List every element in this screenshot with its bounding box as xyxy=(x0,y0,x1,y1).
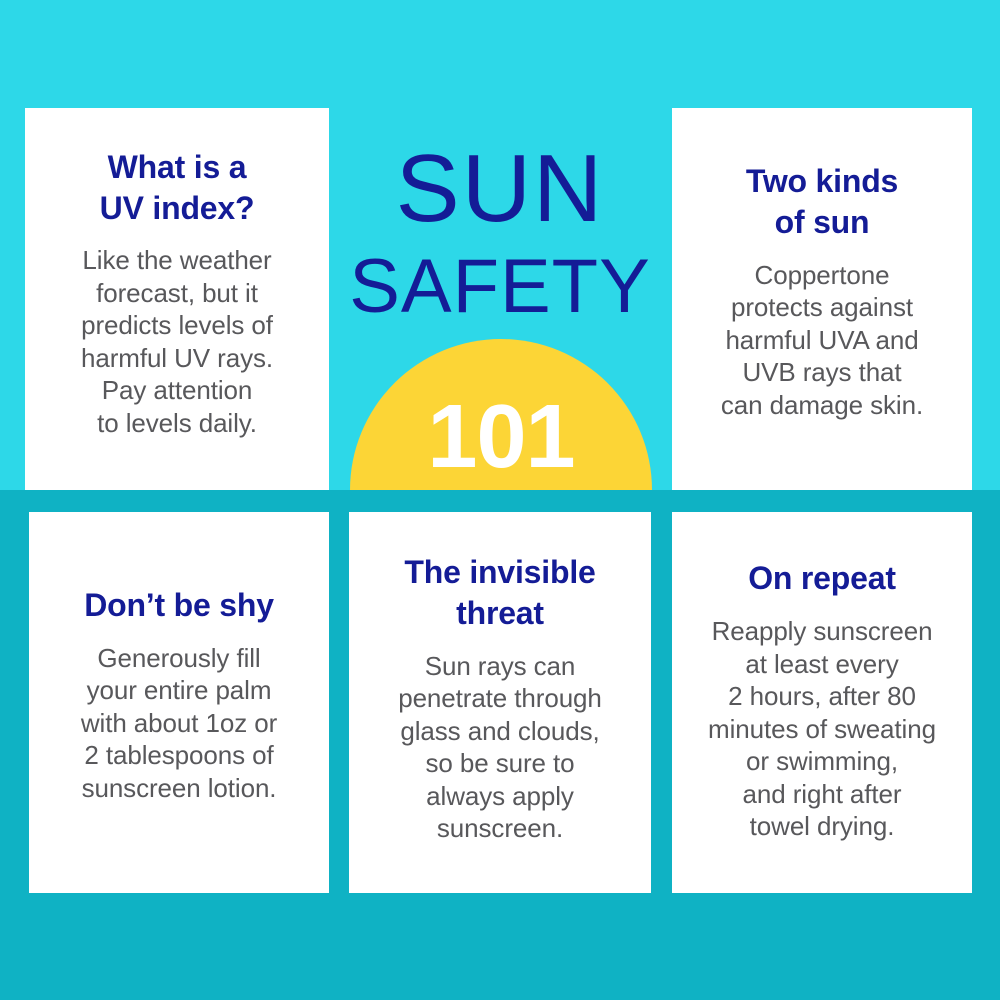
logo-line-sun: SUN xyxy=(330,146,670,232)
card-two-kinds-of-sun-title-line2: of sun xyxy=(775,204,870,240)
body-line: and right after xyxy=(743,779,902,809)
body-line: Pay attention xyxy=(102,375,252,405)
body-line: your entire palm xyxy=(87,675,272,705)
card-invisible-threat: The invisiblethreat Sun rays canpenetrat… xyxy=(349,512,651,893)
body-line: to levels daily. xyxy=(97,408,257,438)
body-line: protects against xyxy=(731,292,913,322)
card-invisible-threat-title-line2: threat xyxy=(456,595,544,631)
body-line: Like the weather xyxy=(82,245,271,275)
body-line: Sun rays can xyxy=(425,651,576,681)
body-line: Reapply sunscreen xyxy=(712,616,933,646)
body-line: penetrate through xyxy=(398,683,602,713)
card-invisible-threat-body: Sun rays canpenetrate throughglass and c… xyxy=(363,650,637,845)
badge-number-101: 101 xyxy=(350,392,652,482)
card-uv-index-title: What is aUV index? xyxy=(39,147,315,229)
card-uv-index: What is aUV index? Like the weatherforec… xyxy=(25,108,329,490)
body-line: 2 hours, after 80 xyxy=(728,681,916,711)
card-on-repeat: On repeat Reapply sunscreenat least ever… xyxy=(672,512,972,893)
body-line: or swimming, xyxy=(746,746,898,776)
card-uv-index-body: Like the weatherforecast, but itpredicts… xyxy=(39,244,315,439)
body-line: at least every xyxy=(745,649,898,679)
body-line: 2 tablespoons of xyxy=(84,740,273,770)
card-uv-index-title-line1: What is a xyxy=(108,149,247,185)
body-line: can damage skin. xyxy=(721,390,923,420)
body-line: sunscreen lotion. xyxy=(82,773,277,803)
card-uv-index-title-line2: UV index? xyxy=(100,190,255,226)
card-two-kinds-of-sun-body: Coppertoneprotects againstharmful UVA an… xyxy=(686,259,958,422)
body-line: towel drying. xyxy=(750,811,895,841)
body-line: Generously fill xyxy=(97,643,260,673)
logo-line-safety: SAFETY xyxy=(330,251,670,323)
body-line: glass and clouds, xyxy=(400,716,599,746)
card-dont-be-shy-body: Generously fillyour entire palmwith abou… xyxy=(43,642,315,805)
body-line: with about 1oz or xyxy=(81,708,277,738)
body-line: harmful UV rays. xyxy=(81,343,273,373)
card-on-repeat-title: On repeat xyxy=(686,558,958,599)
card-two-kinds-of-sun-title: Two kindsof sun xyxy=(686,161,958,243)
body-line: forecast, but it xyxy=(96,278,258,308)
card-invisible-threat-title: The invisiblethreat xyxy=(363,552,637,634)
body-line: so be sure to xyxy=(425,748,574,778)
body-line: harmful UVA and xyxy=(725,325,918,355)
body-line: Coppertone xyxy=(755,260,890,290)
card-two-kinds-of-sun-title-line1: Two kinds xyxy=(746,163,898,199)
card-invisible-threat-title-line1: The invisible xyxy=(404,554,595,590)
body-line: predicts levels of xyxy=(81,310,273,340)
card-dont-be-shy: Don’t be shy Generously fillyour entire … xyxy=(29,512,329,893)
card-two-kinds-of-sun: Two kindsof sun Coppertoneprotects again… xyxy=(672,108,972,490)
card-dont-be-shy-title: Don’t be shy xyxy=(43,585,315,626)
body-line: sunscreen. xyxy=(437,813,563,843)
card-on-repeat-body: Reapply sunscreenat least every2 hours, … xyxy=(686,615,958,843)
sun-safety-infographic: What is aUV index? Like the weatherforec… xyxy=(0,0,1000,1000)
body-line: UVB rays that xyxy=(742,357,901,387)
body-line: always apply xyxy=(426,781,574,811)
body-line: minutes of sweating xyxy=(708,714,936,744)
